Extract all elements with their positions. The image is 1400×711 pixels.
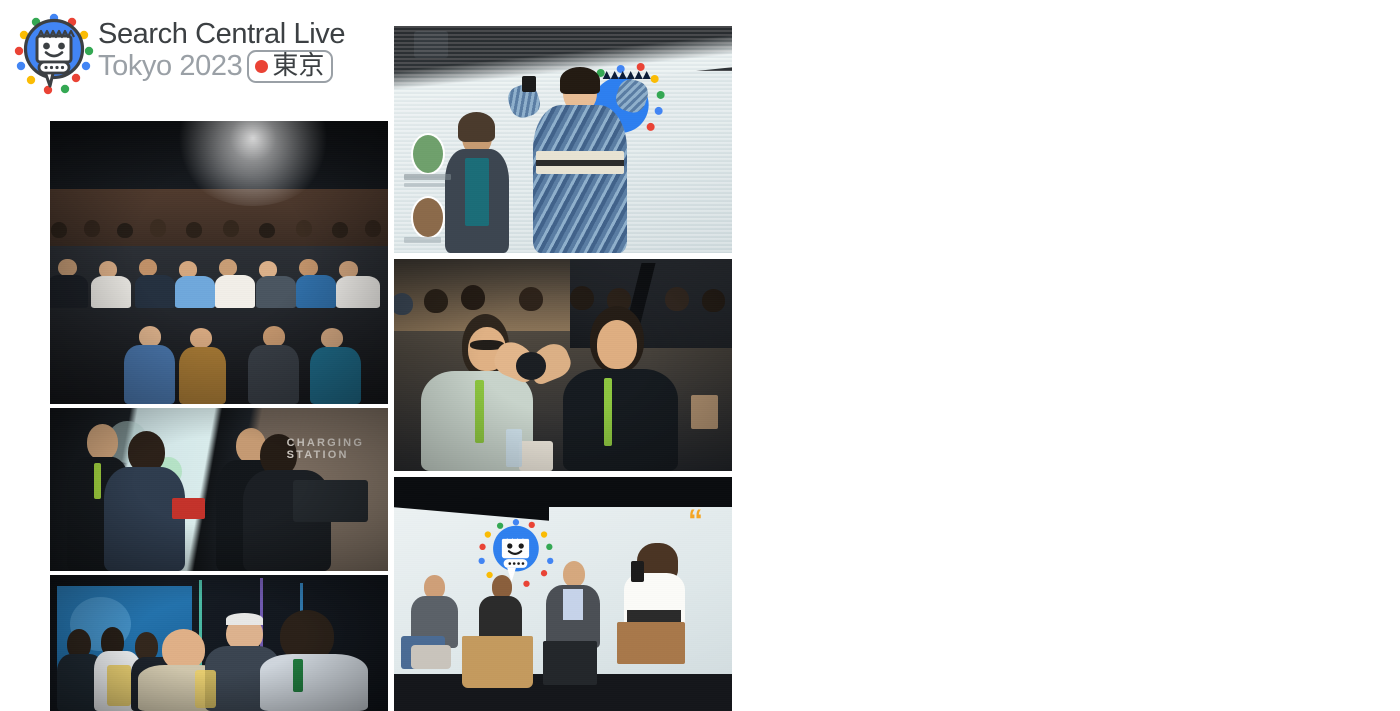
tokyo-subtitle: Tokyo 2023 [98, 51, 242, 82]
tokyo-title: Search Central Live [98, 19, 345, 50]
photo-tokyo-heart: Two attendees making a heart shape with … [394, 259, 732, 471]
tokyo-logo-lockup: Search Central Live Tokyo 2023 東京 [10, 6, 345, 96]
search-central-robot-mascot [10, 6, 98, 96]
photo-tokyo-panel-talk: “ [394, 477, 732, 711]
japan-city-badge: 東京 [247, 50, 333, 83]
tokyo-wordmark: Search Central Live Tokyo 2023 東京 [98, 19, 345, 83]
japan-flag-dot-icon [255, 60, 268, 73]
collage-board: Search Central Live Tokyo 2023 東京 [0, 0, 1400, 704]
tokyo-subtitle-row: Tokyo 2023 東京 [98, 50, 345, 83]
photo-tokyo-award: CHARGING STATION Attendees exchanging a … [50, 408, 388, 571]
jakarta-panel: Search Central Live Jakarta 2023 [700, 0, 1400, 704]
photo-tokyo-stage-yukata: Speaker in blue yukata raising hands on … [394, 26, 732, 253]
photo-tokyo-mingle: Attendees mingling with drinks in front … [50, 575, 388, 711]
photo-tokyo-group: Large audience group photo in Tokyo audi… [50, 121, 388, 404]
tokyo-panel: Search Central Live Tokyo 2023 東京 [0, 0, 700, 704]
japan-city-badge-label: 東京 [272, 53, 324, 79]
